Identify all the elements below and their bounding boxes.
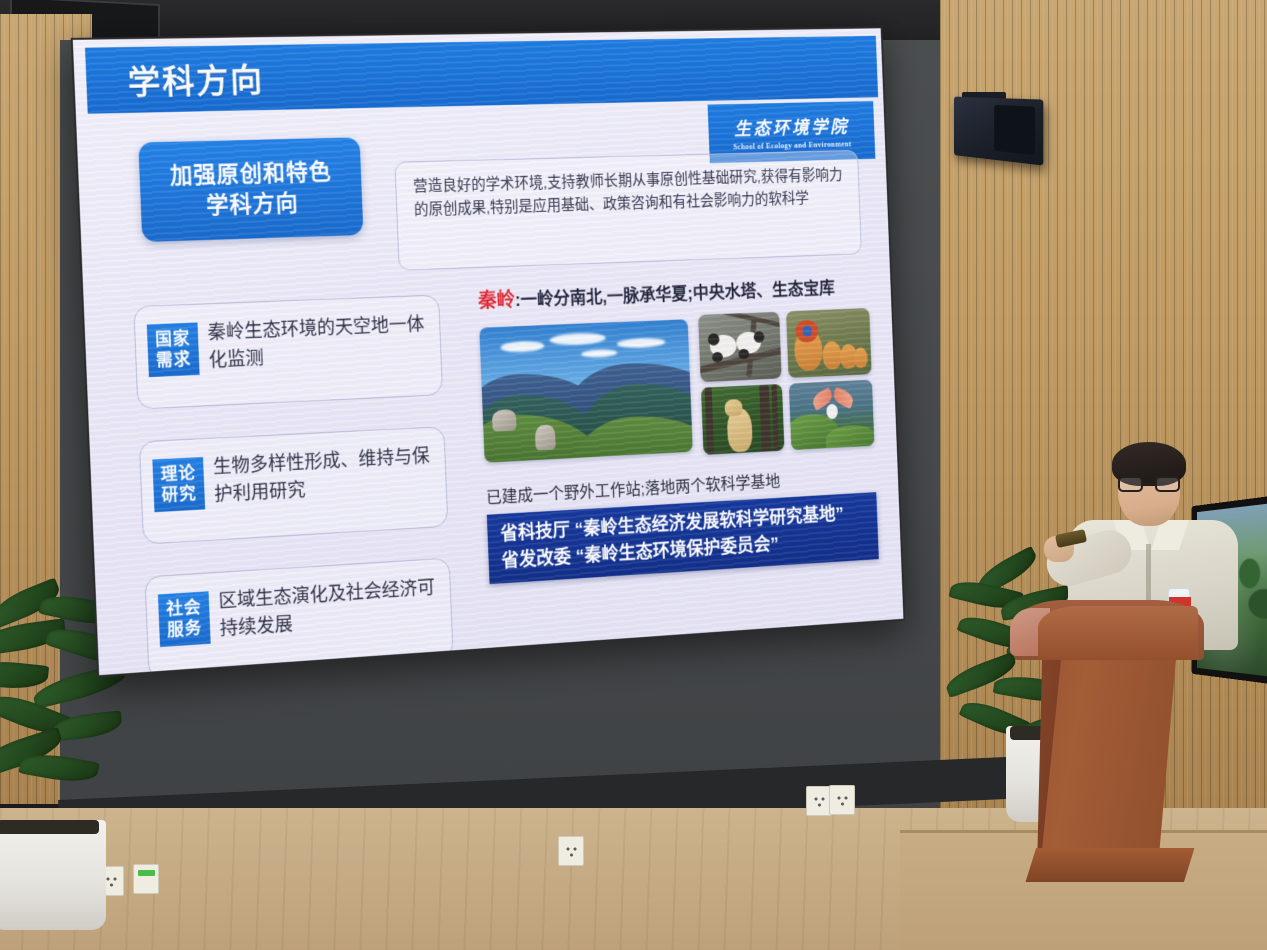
intro-paragraph-box: 营造良好的学术环境,支持教师长期从事原创性基础研究,获得有影响力的原创成果,特别…: [394, 150, 861, 271]
pillar-tag-line-2: 服务: [161, 617, 209, 641]
photo-giant-pandas-on-branch: [698, 312, 782, 382]
qinling-headline: 秦岭:一岭分南北,一脉承华夏;中央水塔、生态宝库: [478, 271, 871, 314]
pillar-card-theory-research: 理论 研究 生物多样性形成、维持与保护利用研究: [139, 426, 449, 545]
pillar-tag-line-1: 国家: [149, 328, 197, 351]
podium-base: [1022, 848, 1198, 882]
photo-grid: [479, 308, 874, 467]
network-outlet[interactable]: [133, 864, 159, 894]
photo-golden-snub-nosed-monkeys: [786, 308, 872, 378]
pillar-tag-social-service: 社会 服务: [158, 591, 211, 646]
photo-takin-in-forest: [701, 384, 785, 455]
pillar-tag-line-1: 理论: [154, 462, 202, 486]
pillar-text-theory-research: 生物多样性形成、维持与保护利用研究: [213, 443, 439, 509]
pillar-tag-theory-research: 理论 研究: [152, 457, 205, 512]
photo-qinling-mountain-landscape: [479, 319, 692, 463]
podium: [1008, 600, 1208, 900]
pillar-card-national-demand: 国家 需求 秦岭生态环境的天空地一体化监测: [133, 295, 443, 410]
eyeglasses-icon: [1118, 476, 1180, 492]
plant-pot-left: [0, 820, 106, 930]
headline-line-2: 学科方向: [206, 188, 300, 221]
podium-top-face: [1038, 606, 1198, 660]
pillar-tag-national-demand: 国家 需求: [147, 322, 200, 376]
wall-speaker-icon: [954, 97, 1043, 166]
headline-line-1: 加强原创和特色: [169, 157, 332, 192]
slide-body: 生态环境学院 School of Ecology and Environment…: [88, 97, 898, 664]
intro-paragraph-text: 营造良好的学术环境,支持教师长期从事原创性基础研究,获得有影响力的原创成果,特别…: [413, 164, 844, 222]
presentation-slide: 学科方向 生态环境学院 School of Ecology and Enviro…: [71, 26, 906, 677]
photo-crested-ibis-in-flight: [789, 380, 875, 450]
logo-name-cn: 生态环境学院: [734, 113, 850, 141]
qinling-description: 一岭分南北,一脉承华夏;中央水塔、生态宝库: [520, 279, 835, 310]
page-title: 学科方向: [127, 54, 265, 104]
qinling-label: 秦岭: [478, 290, 516, 313]
pillar-tag-line-2: 需求: [150, 349, 198, 372]
lecture-hall-scene: 学科方向 生态环境学院 School of Ecology and Enviro…: [0, 0, 1267, 950]
power-outlet[interactable]: [829, 785, 855, 815]
headline-box: 加强原创和特色 学科方向: [138, 137, 363, 242]
projection-screen[interactable]: 学科方向 生态环境学院 School of Ecology and Enviro…: [71, 26, 906, 677]
pillar-text-national-demand: 秦岭生态环境的天空地一体化监测: [207, 311, 433, 374]
power-outlet[interactable]: [558, 836, 584, 866]
pillar-text-social-service: 区域生态演化及社会经济可持续发展: [218, 575, 444, 643]
pillar-tag-line-2: 研究: [155, 483, 203, 507]
research-bases-box: 省科技厅 “秦岭生态经济发展软科学研究基地” 省发改委 “秦岭生态环境保护委员会…: [487, 492, 879, 584]
